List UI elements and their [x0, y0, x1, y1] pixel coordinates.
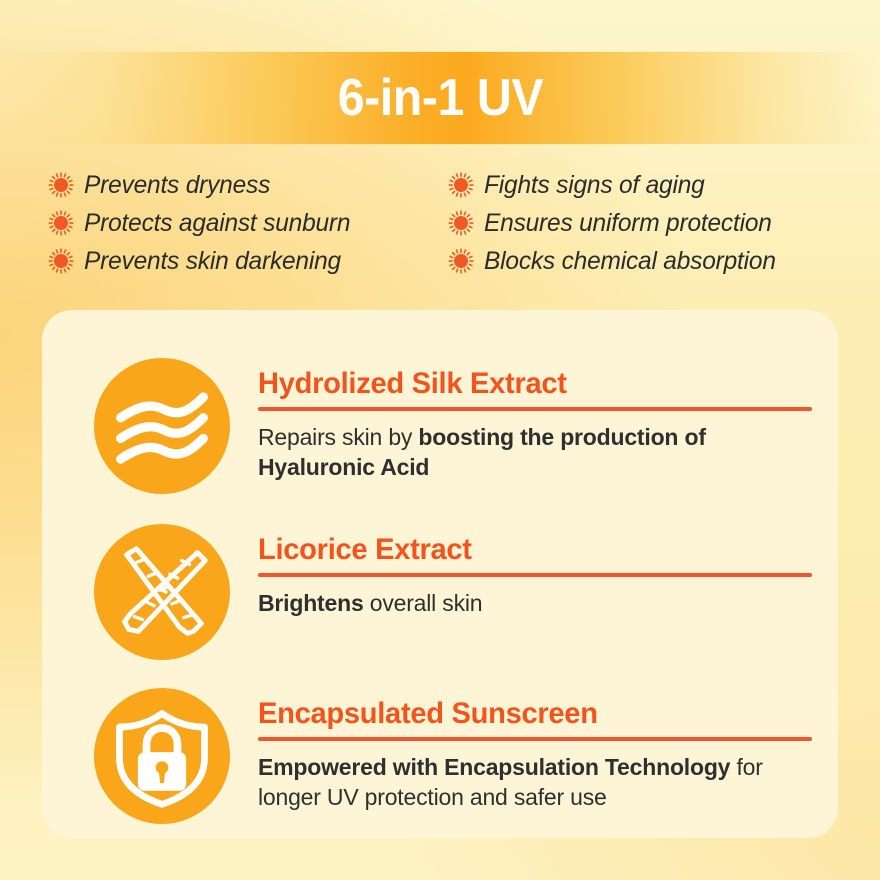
- ingredient-divider: [258, 737, 812, 741]
- sun-icon: [448, 172, 474, 198]
- ingredient-description: Brightens overall skin: [258, 588, 818, 618]
- ingredients-panel: Hydrolized Silk Extract Repairs skin by …: [42, 310, 838, 838]
- ingredient-description: Repairs skin by boosting the production …: [258, 422, 818, 483]
- desc-bold: Brightens: [258, 590, 364, 616]
- benefits-right-column: Fights signs of aging: [448, 166, 848, 280]
- ingredient-body: Licorice Extract Brightens overall skin: [258, 524, 838, 618]
- sun-icon: [48, 210, 74, 236]
- benefit-label: Prevents skin darkening: [84, 247, 341, 276]
- benefits-left-column: Prevents dryness: [48, 166, 448, 280]
- ingredient-body: Encapsulated Sunscreen Empowered with En…: [258, 688, 838, 813]
- ingredient-title: Encapsulated Sunscreen: [258, 698, 821, 730]
- licorice-sticks-icon: [94, 524, 230, 660]
- benefit-label: Ensures uniform protection: [484, 209, 772, 238]
- page-title: 6-in-1 UV: [337, 72, 542, 124]
- ingredient-description: Empowered with Encapsulation Technology …: [258, 752, 818, 813]
- ingredient-row: Encapsulated Sunscreen Empowered with En…: [42, 688, 838, 824]
- ingredient-divider: [258, 407, 812, 411]
- uv-benefits-infographic: 6-in-1 UV: [0, 0, 880, 880]
- ingredient-title: Hydrolized Silk Extract: [258, 368, 821, 400]
- ingredient-row: Hydrolized Silk Extract Repairs skin by …: [42, 358, 838, 494]
- sun-icon: [448, 210, 474, 236]
- benefit-item: Prevents skin darkening: [48, 242, 448, 280]
- ingredient-divider: [258, 573, 812, 577]
- benefit-item: Blocks chemical absorption: [448, 242, 848, 280]
- desc-lead: Repairs skin by: [258, 424, 418, 450]
- ingredient-body: Hydrolized Silk Extract Repairs skin by …: [258, 358, 838, 483]
- header-band: 6-in-1 UV: [0, 52, 880, 144]
- benefit-item: Prevents dryness: [48, 166, 448, 204]
- benefit-label: Fights signs of aging: [484, 171, 705, 200]
- desc-tail: overall skin: [364, 590, 483, 616]
- benefit-item: Protects against sunburn: [48, 204, 448, 242]
- benefit-item: Ensures uniform protection: [448, 204, 848, 242]
- sun-icon: [48, 172, 74, 198]
- benefit-label: Blocks chemical absorption: [484, 247, 776, 276]
- sun-icon: [48, 248, 74, 274]
- ingredient-title: Licorice Extract: [258, 534, 821, 566]
- benefits-list: Prevents dryness: [48, 166, 848, 280]
- desc-bold: Empowered with Encapsulation Technology: [258, 754, 730, 780]
- ingredient-row: Licorice Extract Brightens overall skin: [42, 524, 838, 660]
- benefit-label: Prevents dryness: [84, 171, 270, 200]
- benefit-label: Protects against sunburn: [84, 209, 350, 238]
- benefit-item: Fights signs of aging: [448, 166, 848, 204]
- waves-icon: [94, 358, 230, 494]
- shield-lock-icon: [94, 688, 230, 824]
- sun-icon: [448, 248, 474, 274]
